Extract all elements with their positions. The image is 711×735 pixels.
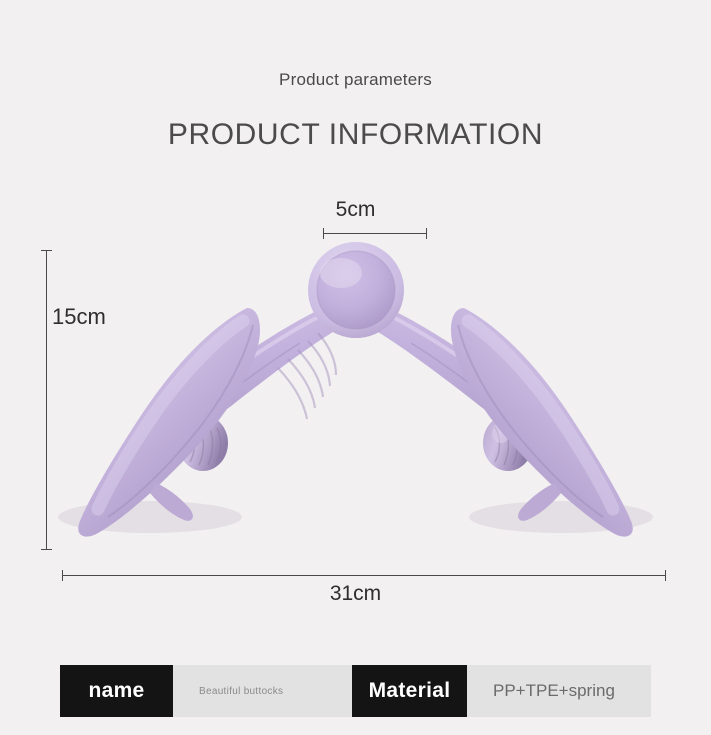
spec-value-material: PP+TPE+spring: [467, 665, 651, 717]
page-title: PRODUCT INFORMATION: [0, 118, 711, 152]
dimension-label-width-bottom: 31cm: [0, 582, 711, 606]
spec-key-name: name: [60, 665, 173, 717]
spec-value-name: Beautiful buttocks: [173, 665, 352, 717]
product-image: [0, 175, 711, 575]
caliper-width-bottom: [62, 575, 666, 576]
caliper-width-top: [323, 233, 427, 234]
product-info-page: Product parameters PRODUCT INFORMATION: [0, 0, 711, 735]
dimension-label-height-left: 15cm: [52, 304, 106, 330]
spec-key-material: Material: [352, 665, 467, 717]
caliper-height-left: [46, 250, 47, 550]
page-subtitle: Product parameters: [0, 70, 711, 90]
dimension-label-width-top: 5cm: [0, 198, 711, 222]
spec-table: name Beautiful buttocks Material PP+TPE+…: [60, 665, 651, 717]
center-disc-gloss: [320, 258, 362, 288]
